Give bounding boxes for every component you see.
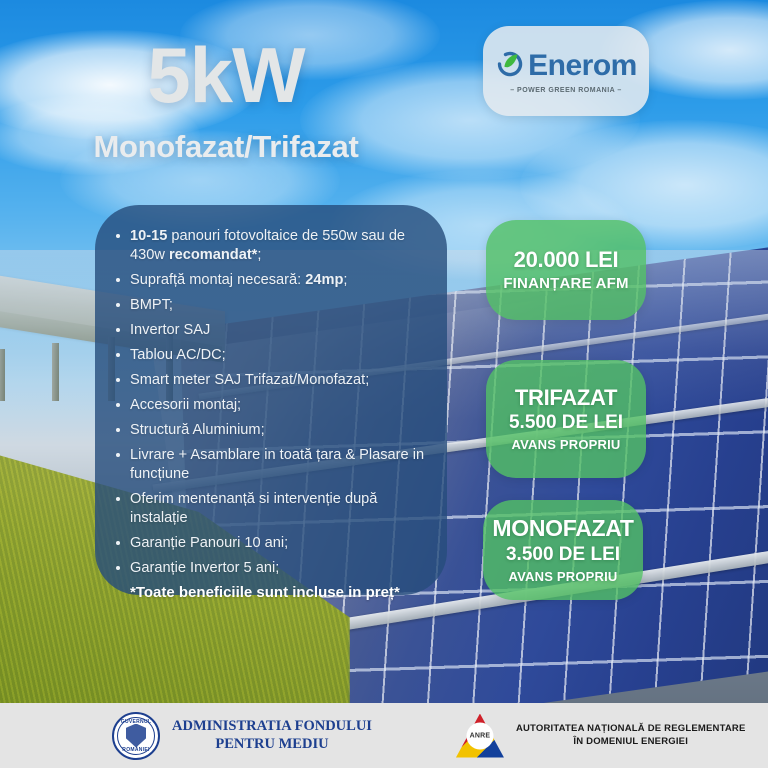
specifications-panel: 10-15 panouri fotovoltaice de 550w sau d… (95, 205, 447, 595)
spec-bullet-garantie-pan: Garanție Panouri 10 ani; (113, 534, 425, 553)
price-card-line3: AVANS PROPRIU (511, 437, 620, 452)
brand-tagline: – POWER GREEN ROMANIA – (510, 87, 622, 94)
spec-bullet-garantie-inv: Garanție Invertor 5 ani; (113, 559, 425, 578)
spec-bullet-panouri: 10-15 panouri fotovoltaice de 550w sau d… (113, 227, 425, 266)
guvernul-romaniei-seal-icon: GUVERNUL ROMÂNIEI (112, 712, 160, 760)
price-card-monofazat: MONOFAZAT 3.500 DE LEI AVANS PROPRIU (483, 500, 643, 600)
price-card-line1: TRIFAZAT (515, 386, 617, 410)
brand-name: Enerom (528, 51, 637, 81)
spec-bullet-bmpt: BMPT; (113, 296, 425, 315)
anre-label: AUTORITATEA NAȚIONALĂ DE REGLEMENTARE ÎN… (516, 723, 746, 749)
price-card-line1: 20.000 LEI (514, 248, 619, 272)
spec-bullet-suprafata: Suprafță montaj necesară: 24mp; (113, 271, 425, 290)
price-card-finantare-afm: 20.000 LEI FINANȚARE AFM (486, 220, 646, 320)
spec-bullet-livrare: Livrare + Asamblare in toată țara & Plas… (113, 446, 425, 485)
afm-label: ADMINISTRATIA FONDULUI PENTRU MEDIU (172, 718, 372, 752)
spec-bullet-invertor: Invertor SAJ (113, 321, 425, 340)
afm-label-line1: ADMINISTRATIA FONDULUI (172, 718, 372, 735)
anre-label-line1: AUTORITATEA NAȚIONALĂ DE REGLEMENTARE (516, 723, 746, 736)
afm-label-line2: PENTRU MEDIU (172, 736, 372, 753)
price-card-line2: FINANȚARE AFM (503, 275, 628, 292)
anre-triangle-icon: ANRE (456, 714, 504, 758)
benefits-footnote: *Toate beneficiile sunt incluse in preț* (113, 584, 425, 601)
seal-text-bottom: ROMÂNIEI (114, 747, 158, 753)
anre-logo-label: ANRE (466, 723, 493, 750)
enerom-leaf-swoosh-icon (495, 49, 525, 84)
specification-list: 10-15 panouri fotovoltaice de 550w sau d… (113, 227, 425, 579)
anre-label-line2: ÎN DOMENIUL ENERGIEI (516, 736, 746, 749)
brand-logo-card: Enerom – POWER GREEN ROMANIA – (483, 26, 649, 116)
spec-bullet-structura: Structură Aluminium; (113, 421, 425, 440)
footer-bar: GUVERNUL ROMÂNIEI ADMINISTRATIA FONDULUI… (0, 703, 768, 768)
price-card-trifazat: TRIFAZAT 5.500 DE LEI AVANS PROPRIU (486, 360, 646, 478)
afm-logo-block: GUVERNUL ROMÂNIEI ADMINISTRATIA FONDULUI… (112, 712, 372, 760)
spec-bullet-smart-meter: Smart meter SAJ Trifazat/Monofazat; (113, 371, 425, 390)
spec-bullet-tablou: Tablou AC/DC; (113, 346, 425, 365)
anre-logo-block: ANRE AUTORITATEA NAȚIONALĂ DE REGLEMENTA… (456, 714, 746, 758)
price-card-line1: MONOFAZAT (492, 516, 633, 541)
price-card-line2: 3.500 DE LEI (506, 544, 620, 566)
spec-bullet-accesorii: Accesorii montaj; (113, 396, 425, 415)
promo-poster: 5kW Monofazat/Trifazat Enerom – POWER GR… (0, 0, 768, 768)
price-card-line3: AVANS PROPRIU (508, 569, 617, 584)
spec-bullet-mentenanta: Oferim mentenanță si intervenție după in… (113, 490, 425, 529)
price-card-line2: 5.500 DE LEI (509, 412, 623, 434)
